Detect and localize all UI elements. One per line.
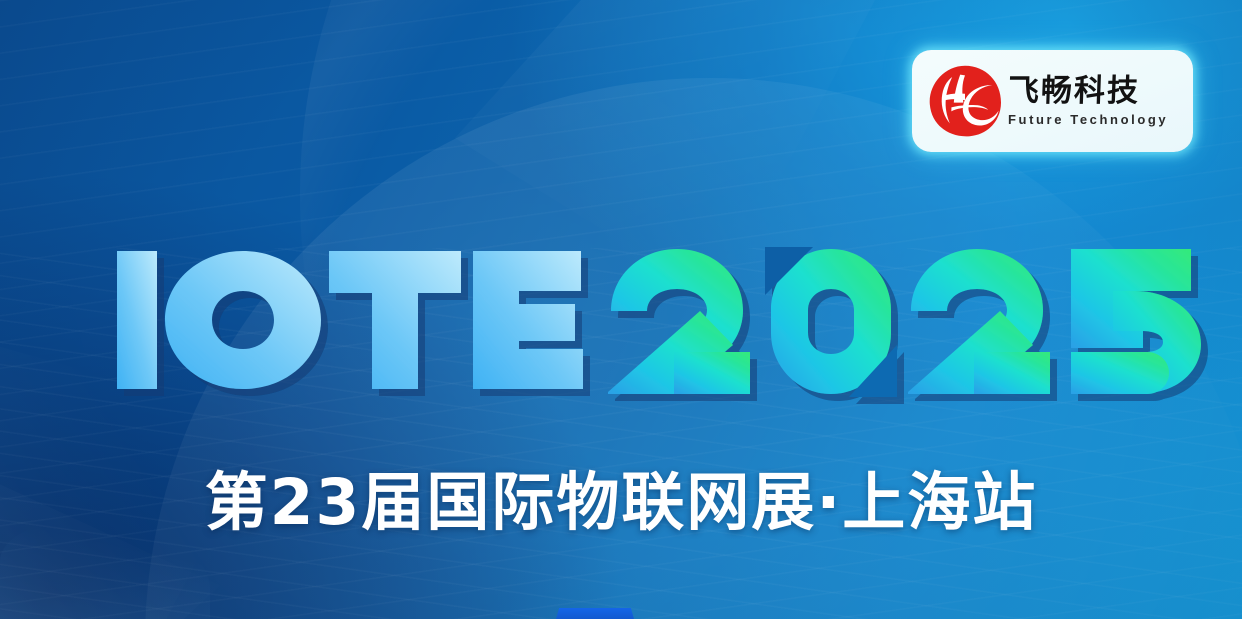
company-logo-badge[interactable]: 飞畅科技 Future Technology xyxy=(912,50,1193,152)
headline-iote-2025 xyxy=(113,245,1098,395)
company-name-cn: 飞畅科技 xyxy=(1007,75,1168,108)
bottom-accent-bar xyxy=(556,608,634,619)
headline-year-digits xyxy=(608,233,1201,397)
company-name-en: Future Technology xyxy=(1008,112,1168,127)
headline-iote-letters xyxy=(117,251,583,389)
feichang-technology-logo-mark-icon xyxy=(924,61,1006,141)
event-subtitle: 第23届国际物联网展·上海站 xyxy=(0,452,1242,543)
iote-2025-event-banner: 飞畅科技 Future Technology xyxy=(0,0,1242,619)
